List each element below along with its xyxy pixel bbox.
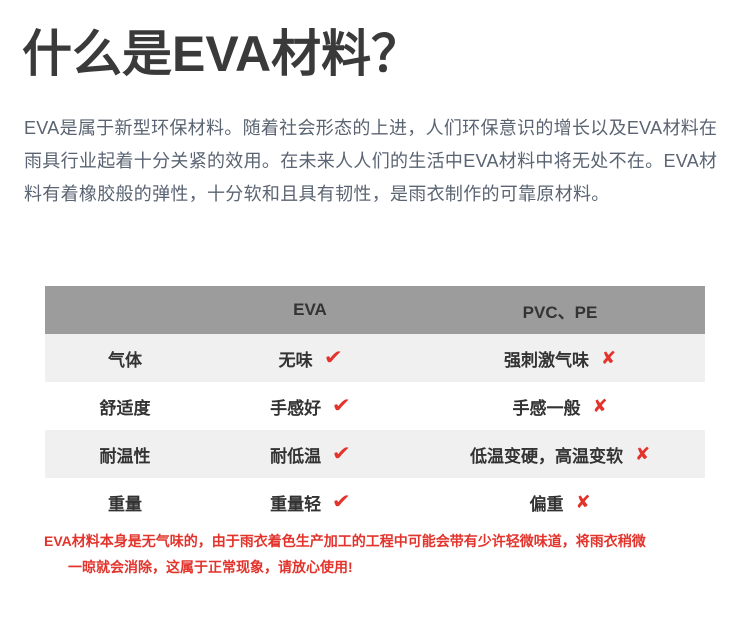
row-label: 舒适度 xyxy=(45,382,205,430)
header-cell-blank xyxy=(45,286,205,334)
row-pvc-text: 偏重 xyxy=(529,490,563,515)
cross-icon: ✘ xyxy=(575,493,590,511)
row-eva-text: 耐低温 xyxy=(270,442,321,467)
comparison-table: EVA PVC、PE 气体 无味 ✔ 强刺激气味 ✘ xyxy=(45,286,705,526)
row-eva-cell: 手感好 ✔ xyxy=(205,382,415,430)
row-pvc-text: 强刺激气味 xyxy=(504,346,589,371)
row-eva-cell: 重量轻 ✔ xyxy=(205,478,415,526)
row-eva-text: 无味 xyxy=(279,346,313,371)
table-row: 重量 重量轻 ✔ 偏重 ✘ xyxy=(45,478,705,526)
row-label: 气体 xyxy=(45,334,205,382)
header-cell-eva: EVA xyxy=(205,286,415,334)
row-eva-text: 重量轻 xyxy=(270,490,321,515)
row-pvc-cell: 手感一般 ✘ xyxy=(415,382,705,430)
table-row: 气体 无味 ✔ 强刺激气味 ✘ xyxy=(45,334,705,382)
row-pvc-text: 手感一般 xyxy=(512,394,580,419)
page-title: 什么是EVA材料？ xyxy=(22,26,421,82)
row-label: 耐温性 xyxy=(45,430,205,478)
table-row: 耐温性 耐低温 ✔ 低温变硬，高温变软 ✘ xyxy=(45,430,705,478)
disclaimer-line-1: EVA材料本身是无气味的，由于雨衣着色生产加工的工程中可能会带有少许轻微味道，将… xyxy=(44,533,646,549)
table-header-row: EVA PVC、PE xyxy=(45,286,705,334)
row-pvc-cell: 强刺激气味 ✘ xyxy=(415,334,705,382)
row-pvc-cell: 低温变硬，高温变软 ✘ xyxy=(415,430,705,478)
header-cell-pvc: PVC、PE xyxy=(415,286,705,334)
row-eva-cell: 耐低温 ✔ xyxy=(205,430,415,478)
row-pvc-cell: 偏重 ✘ xyxy=(415,478,705,526)
cross-icon: ✘ xyxy=(592,397,607,415)
product-description-page: 什么是EVA材料？ EVA是属于新型环保材料。随着社会形态的上进，人们环保意识的… xyxy=(0,0,750,632)
check-icon: ✔ xyxy=(323,348,342,368)
check-icon: ✔ xyxy=(332,444,351,464)
disclaimer-line-2: 一晾就会消除，这属于正常现象，请放心使用! xyxy=(44,554,712,580)
row-label: 重量 xyxy=(45,478,205,526)
table-row: 舒适度 手感好 ✔ 手感一般 ✘ xyxy=(45,382,705,430)
comparison-table-wrapper: EVA PVC、PE 气体 无味 ✔ 强刺激气味 ✘ xyxy=(45,286,705,526)
row-pvc-text: 低温变硬，高温变软 xyxy=(470,442,623,467)
row-eva-cell: 无味 ✔ xyxy=(205,334,415,382)
cross-icon: ✘ xyxy=(601,349,616,367)
row-eva-text: 手感好 xyxy=(270,394,321,419)
check-icon: ✔ xyxy=(332,492,351,512)
check-icon: ✔ xyxy=(332,396,351,416)
intro-paragraph: EVA是属于新型环保材料。随着社会形态的上进，人们环保意识的增长以及EVA材料在… xyxy=(24,112,730,211)
disclaimer-note: EVA材料本身是无气味的，由于雨衣着色生产加工的工程中可能会带有少许轻微味道，将… xyxy=(44,528,712,580)
cross-icon: ✘ xyxy=(635,445,650,463)
